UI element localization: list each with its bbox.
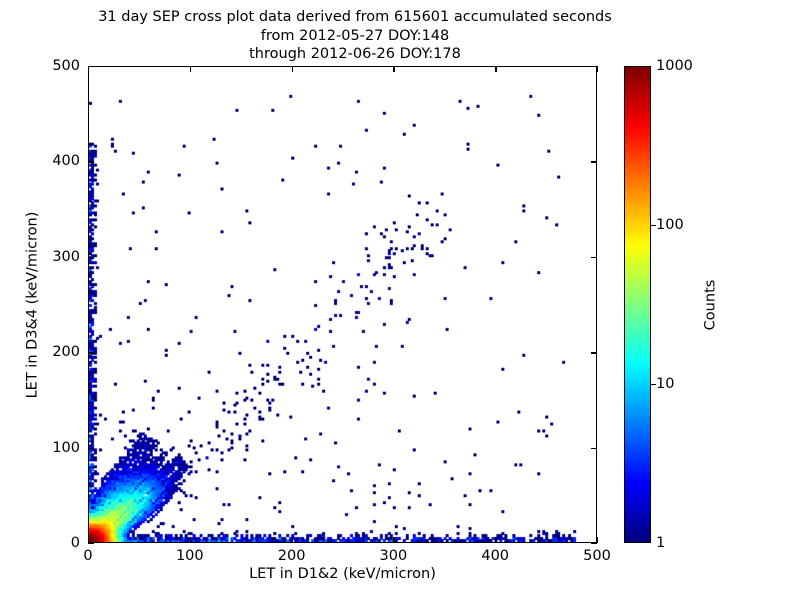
y-tick-label: 300: [52, 249, 80, 265]
y-tick: [88, 161, 94, 162]
y-tick-label: 0: [71, 535, 80, 551]
x-tick: [292, 537, 293, 543]
y-tick: [591, 161, 597, 162]
y-tick-label: 500: [52, 58, 80, 74]
y-tick: [88, 352, 94, 353]
x-tick-label: 300: [380, 548, 408, 564]
title-line-2: from 2012-05-27 DOY:148: [0, 27, 710, 46]
y-tick: [591, 352, 597, 353]
y-tick: [88, 543, 94, 544]
plot-axes: [88, 66, 597, 543]
x-tick: [597, 537, 598, 543]
x-axis-label: LET in D1&2 (keV/micron): [88, 566, 597, 582]
x-tick: [292, 66, 293, 72]
x-tick-label: 400: [481, 548, 509, 564]
x-tick-label: 0: [83, 548, 92, 564]
scatter-heatmap-canvas: [89, 67, 596, 542]
y-axis-label: LET in D3&4 (keV/micron): [22, 66, 42, 543]
y-tick: [591, 257, 597, 258]
x-tick: [495, 66, 496, 72]
title-line-3: through 2012-06-26 DOY:178: [0, 45, 710, 64]
colorbar-title-text: Counts: [702, 279, 718, 330]
colorbar: [624, 66, 651, 543]
figure: 31 day SEP cross plot data derived from …: [0, 0, 800, 600]
y-tick: [88, 257, 94, 258]
colorbar-tick-label: 1000: [656, 58, 693, 74]
colorbar-title: Counts: [700, 66, 720, 543]
colorbar-tick-label: 10: [656, 376, 674, 392]
x-tick: [597, 66, 598, 72]
y-tick-label: 200: [52, 344, 80, 360]
y-tick: [591, 543, 597, 544]
title-line-1: 31 day SEP cross plot data derived from …: [0, 8, 710, 27]
x-tick-label: 500: [583, 548, 611, 564]
x-tick: [495, 537, 496, 543]
y-axis-label-text: LET in D3&4 (keV/micron): [24, 211, 40, 398]
x-tick-label: 200: [278, 548, 306, 564]
plot-title: 31 day SEP cross plot data derived from …: [0, 8, 710, 64]
y-tick: [591, 66, 597, 67]
colorbar-gradient: [624, 66, 651, 543]
y-tick: [88, 66, 94, 67]
x-tick: [190, 66, 191, 72]
colorbar-tick-label: 100: [656, 217, 684, 233]
x-tick: [190, 537, 191, 543]
x-tick: [393, 537, 394, 543]
y-tick-label: 100: [52, 440, 80, 456]
x-tick-label: 100: [176, 548, 204, 564]
y-tick: [88, 448, 94, 449]
x-tick: [393, 66, 394, 72]
colorbar-tick-label: 1: [656, 535, 665, 551]
y-tick: [591, 448, 597, 449]
y-tick-label: 400: [52, 153, 80, 169]
